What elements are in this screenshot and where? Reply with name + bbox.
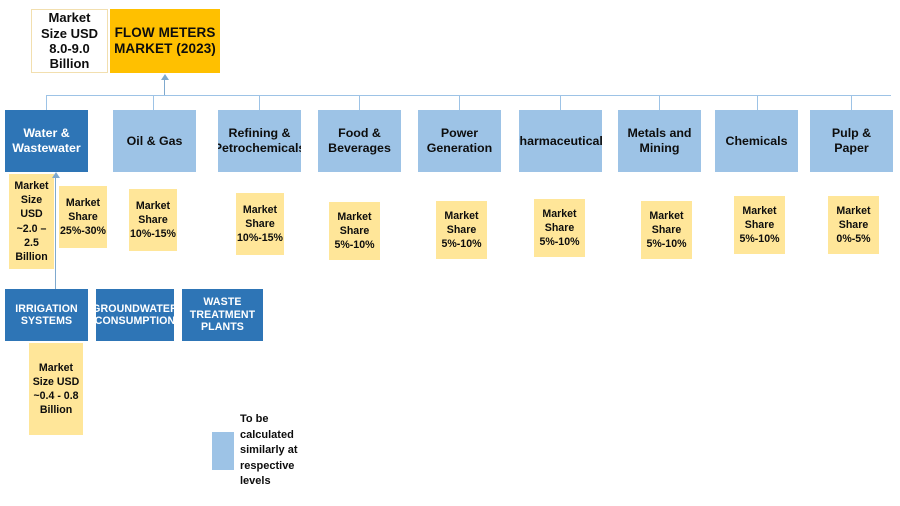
legend-swatch (212, 432, 234, 470)
category-box-refining-petrochemicals[interactable]: Refining & Petrochemicals (218, 110, 301, 172)
category-box-food-beverages[interactable]: Food & Beverages (318, 110, 401, 172)
tier1-drop-7 (757, 95, 758, 110)
metric-box-oil-gas-share: Market Share 10%-15% (129, 189, 177, 251)
tier1-drop-2 (259, 95, 260, 110)
metric-box-pharmaceuticals-share: Market Share 5%-10% (534, 199, 585, 257)
legend-label: To be calculated similarly at respective… (240, 412, 308, 490)
metric-box-power-generation-share: Market Share 5%-10% (436, 201, 487, 259)
tier1-drop-5 (560, 95, 561, 110)
category-box-water-wastewater[interactable]: Water & Wastewater (5, 110, 88, 172)
metric-box-water-wastewater-size: Market Size USD ~2.0 – 2.5 Billion (9, 174, 54, 269)
category-box-oil-gas[interactable]: Oil & Gas (113, 110, 196, 172)
metric-box-refining-share: Market Share 10%-15% (236, 193, 284, 255)
tier2-connector-line (55, 177, 56, 289)
category-box-chemicals[interactable]: Chemicals (715, 110, 798, 172)
root-title-box[interactable]: FLOW METERS MARKET (2023) (110, 9, 220, 73)
metric-box-metals-mining-share: Market Share 5%-10% (641, 201, 692, 259)
metric-box-food-beverages-share: Market Share 5%-10% (329, 202, 380, 260)
tier2-connector-arrow-icon (52, 172, 60, 178)
metric-box-chemicals-share: Market Share 5%-10% (734, 196, 785, 254)
tier1-drop-1 (153, 95, 154, 110)
tier1-drop-0 (46, 95, 47, 110)
subcategory-box-groundwater-consumption[interactable]: GROUNDWATER CONSUMPTION (96, 289, 174, 341)
metric-box-pulp-paper-share: Market Share 0%-5% (828, 196, 879, 254)
tier1-horizontal-bus (46, 95, 891, 96)
diagram-canvas: Market Size USD 8.0-9.0 Billion FLOW MET… (0, 0, 900, 506)
metric-box-water-wastewater-share: Market Share 25%-30% (59, 186, 107, 248)
category-box-pulp-paper[interactable]: Pulp & Paper (810, 110, 893, 172)
tier1-drop-3 (359, 95, 360, 110)
category-box-pharmaceuticals[interactable]: Pharmaceuticals (519, 110, 602, 172)
category-box-metals-mining[interactable]: Metals and Mining (618, 110, 701, 172)
tier1-drop-6 (659, 95, 660, 110)
root-trunk-arrow-icon (161, 74, 169, 80)
tier1-drop-8 (851, 95, 852, 110)
root-trunk-line (164, 79, 165, 96)
subcategory-box-waste-treatment-plants[interactable]: WASTE TREATMENT PLANTS (182, 289, 263, 341)
category-box-power-generation[interactable]: Power Generation (418, 110, 501, 172)
subcategory-box-irrigation-systems[interactable]: IRRIGATION SYSTEMS (5, 289, 88, 341)
metric-box-irrigation-systems-size: Market Size USD ~0.4 - 0.8 Billion (29, 343, 83, 435)
root-market-size-box: Market Size USD 8.0-9.0 Billion (31, 9, 108, 73)
tier1-drop-4 (459, 95, 460, 110)
